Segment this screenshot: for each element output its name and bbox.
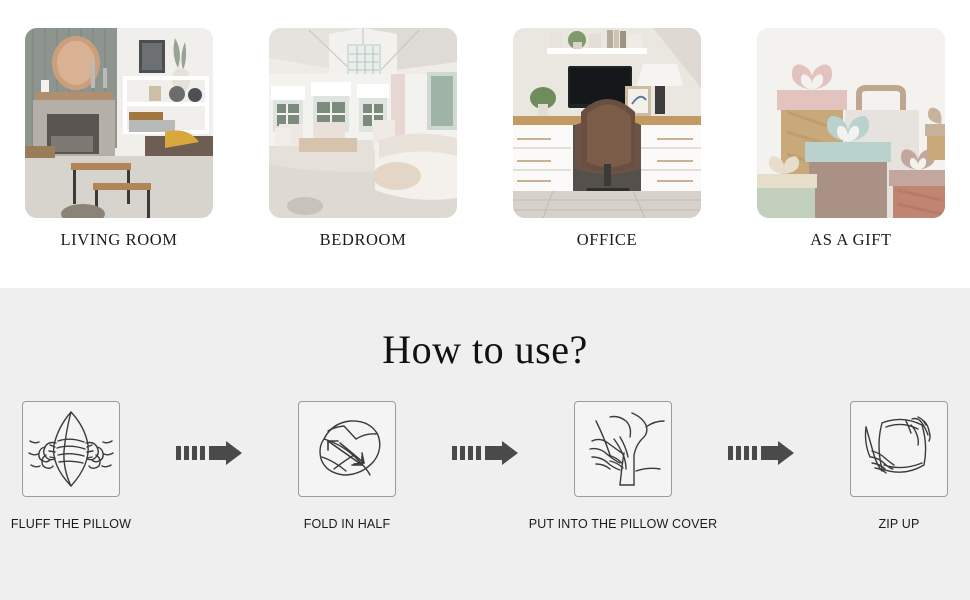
room-usage-gallery: LIVING ROOM [0,0,970,288]
step-fold-in-half: FOLD IN HALF [252,401,442,531]
product-description-page: LIVING ROOM [0,0,970,600]
room-card-living-room[interactable]: LIVING ROOM [25,28,213,288]
fluff-pillow-icon [22,401,120,497]
how-to-use-steps: FLUFF THE PILLOW [0,401,970,531]
step-zip-up: ZIP UP [804,401,970,531]
how-to-use-section: How to use? [0,288,970,600]
step-label: ZIP UP [879,517,920,531]
living-room-photo [25,28,213,218]
segmented-arrow-right-icon [166,401,252,465]
room-card-bedroom[interactable]: BEDROOM [269,28,457,288]
room-label: BEDROOM [320,230,407,250]
segmented-arrow-right-icon [442,401,528,465]
step-label: PUT INTO THE PILLOW COVER [529,517,718,531]
step-fluff-the-pillow: FLUFF THE PILLOW [0,401,166,531]
room-card-as-a-gift[interactable]: AS A GIFT [757,28,945,288]
how-to-use-title: How to use? [0,288,970,373]
room-card-office[interactable]: OFFICE [513,28,701,288]
fold-pillow-icon [298,401,396,497]
step-label: FOLD IN HALF [304,517,391,531]
segmented-arrow-right-icon [718,401,804,465]
step-label: FLUFF THE PILLOW [11,517,131,531]
insert-pillow-icon [574,401,672,497]
gift-boxes-photo [757,28,945,218]
room-label: OFFICE [577,230,637,250]
bedroom-photo [269,28,457,218]
step-put-into-the-pillow-cover: PUT INTO THE PILLOW COVER [528,401,718,531]
room-label: LIVING ROOM [60,230,177,250]
office-photo [513,28,701,218]
room-label: AS A GIFT [810,230,892,250]
zip-up-icon [850,401,948,497]
